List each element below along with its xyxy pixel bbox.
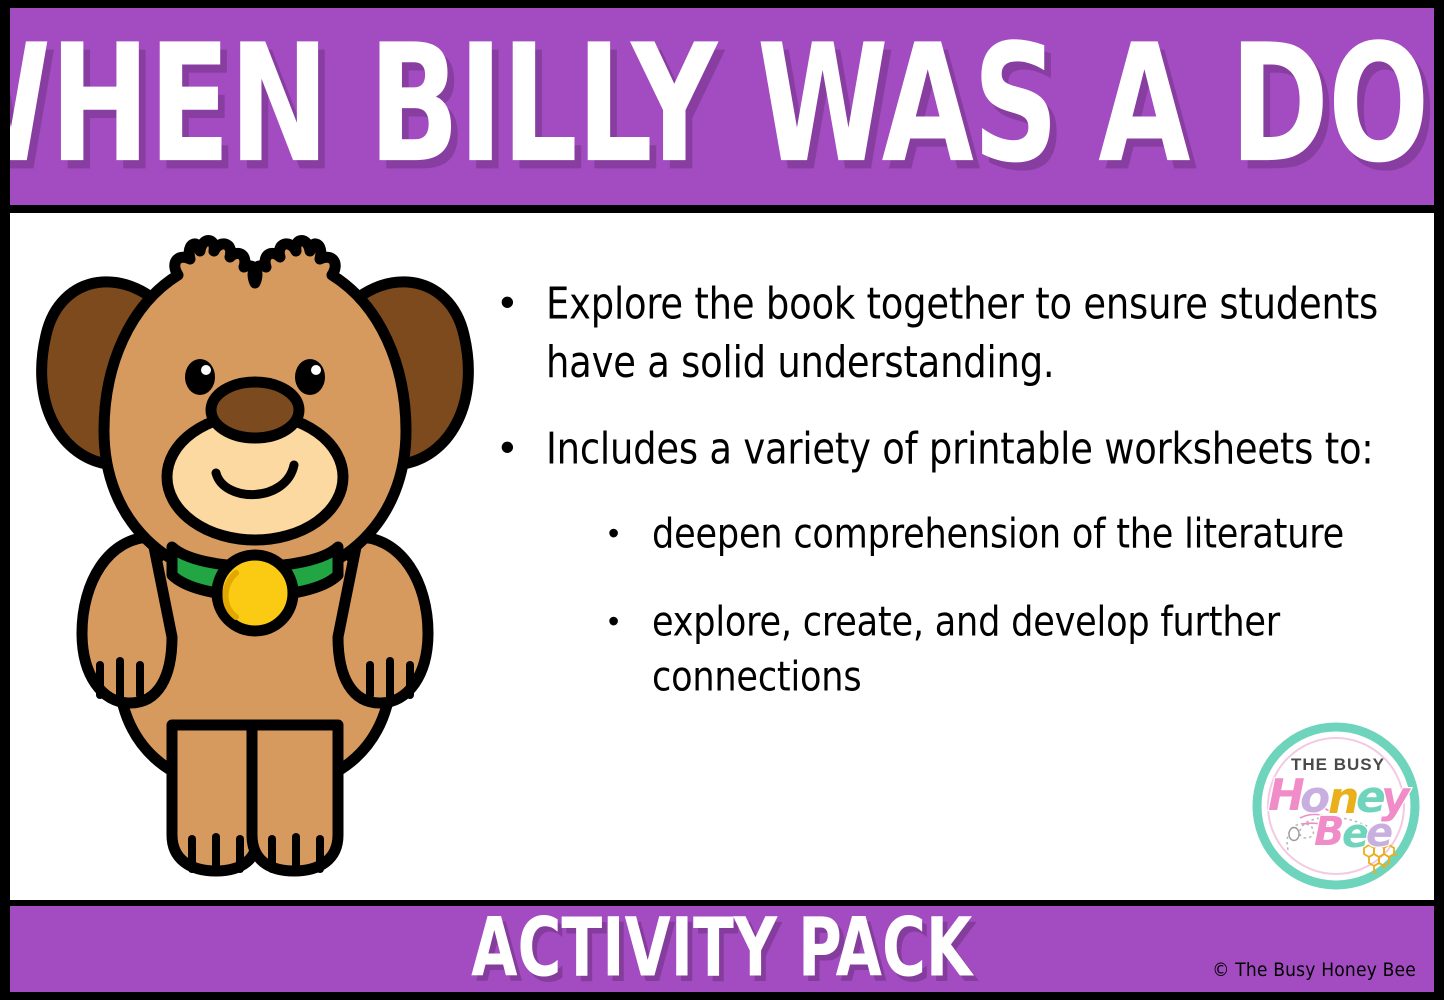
- sub-bullet-text: deepen comprehension of the literature: [652, 507, 1344, 562]
- poster-root: WHEN BILLY WAS A DOG: [0, 0, 1444, 1000]
- footer-title-text: ACTIVITY PACK: [471, 907, 972, 988]
- main-content-area: • Explore the book together to ensure st…: [10, 213, 1434, 900]
- logo-word-bee: B e e: [1314, 809, 1393, 857]
- dog-right-arm: [338, 537, 428, 703]
- dog-right-eye: [295, 359, 325, 395]
- footer-banner: ACTIVITY PACK © The Busy Honey Bee: [10, 906, 1434, 992]
- dog-left-eye: [185, 359, 215, 395]
- bullet-text: Explore the book together to ensure stud…: [546, 275, 1380, 391]
- bullet-item: • Explore the book together to ensure st…: [500, 275, 1380, 384]
- bullet-marker-icon: •: [500, 420, 546, 474]
- sub-bullet-marker-icon: •: [608, 595, 652, 647]
- page-title: WHEN BILLY WAS A DOG: [10, 23, 1434, 191]
- bullet-text: Includes a variety of printable workshee…: [546, 420, 1380, 478]
- dog-nose: [211, 382, 299, 438]
- bullet-marker-icon: •: [500, 275, 546, 329]
- sub-bullet-marker-icon: •: [608, 507, 652, 559]
- dog-illustration: [20, 225, 490, 885]
- brand-logo: THE BUSY H o n e y B e e: [1250, 720, 1422, 892]
- sub-bullet-item: • deepen comprehension of the literature: [608, 507, 1380, 559]
- bullet-list: • Explore the book together to ensure st…: [500, 275, 1380, 698]
- svg-text:e: e: [1366, 810, 1393, 856]
- dog-left-arm: [82, 537, 172, 703]
- sub-bullet-list: • deepen comprehension of the literature…: [608, 507, 1380, 699]
- svg-text:B: B: [1314, 809, 1345, 855]
- sub-bullet-item: • explore, create, and develop further c…: [608, 595, 1380, 699]
- bullet-item: • Includes a variety of printable worksh…: [500, 420, 1380, 698]
- copyright-notice: © The Busy Honey Bee: [1212, 959, 1416, 981]
- sub-bullet-text: explore, create, and develop further con…: [652, 595, 1380, 705]
- logo-bee-icon: [1289, 828, 1299, 841]
- title-banner: WHEN BILLY WAS A DOG: [10, 8, 1434, 205]
